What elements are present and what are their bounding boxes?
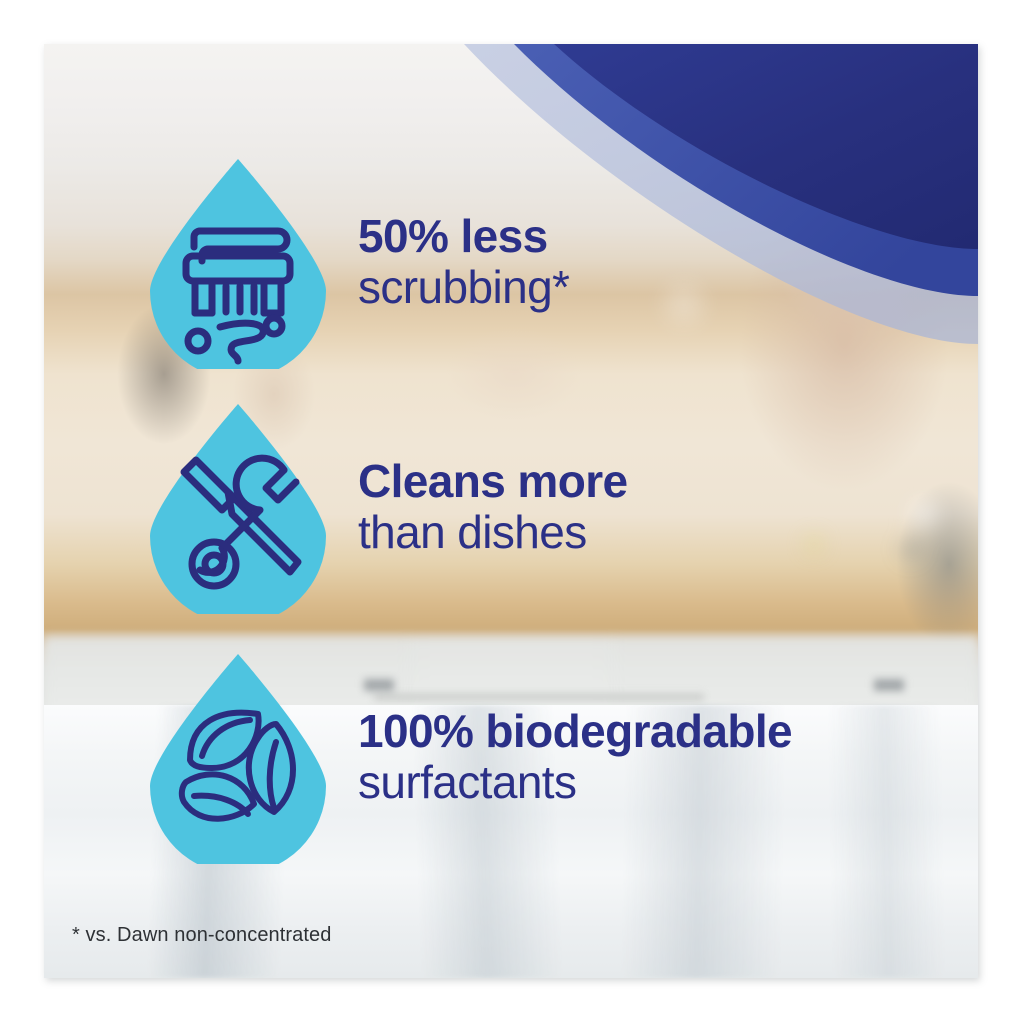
screwdriver-wrench-icon (150, 400, 326, 614)
footnote-disclaimer: * vs. Dawn non-concentrated (72, 924, 332, 947)
feature-subline-2: than dishes (358, 509, 628, 556)
feature-text-1: 50% less scrubbing* (358, 213, 569, 311)
image-canvas: 50% less scrubbing* (0, 0, 1024, 1024)
scrub-brush-icon (150, 155, 326, 369)
droplet-badge-3 (150, 650, 326, 864)
product-feature-card: 50% less scrubbing* (44, 44, 978, 978)
feature-text-3: 100% biodegradable surfactants (358, 708, 792, 806)
feature-subline-1: scrubbing* (358, 264, 569, 311)
recycle-leaves-icon (150, 650, 326, 864)
droplet-badge-1 (150, 155, 326, 369)
feature-row-2: Cleans more than dishes (44, 400, 978, 614)
feature-row-3: 100% biodegradable surfactants (44, 650, 978, 864)
feature-list: 50% less scrubbing* (44, 44, 978, 978)
feature-headline-3: 100% biodegradable (358, 708, 792, 755)
feature-text-2: Cleans more than dishes (358, 458, 628, 556)
feature-headline-1: 50% less (358, 213, 569, 260)
feature-headline-2: Cleans more (358, 458, 628, 505)
feature-row-1: 50% less scrubbing* (44, 155, 978, 369)
feature-subline-3: surfactants (358, 759, 792, 806)
droplet-badge-2 (150, 400, 326, 614)
